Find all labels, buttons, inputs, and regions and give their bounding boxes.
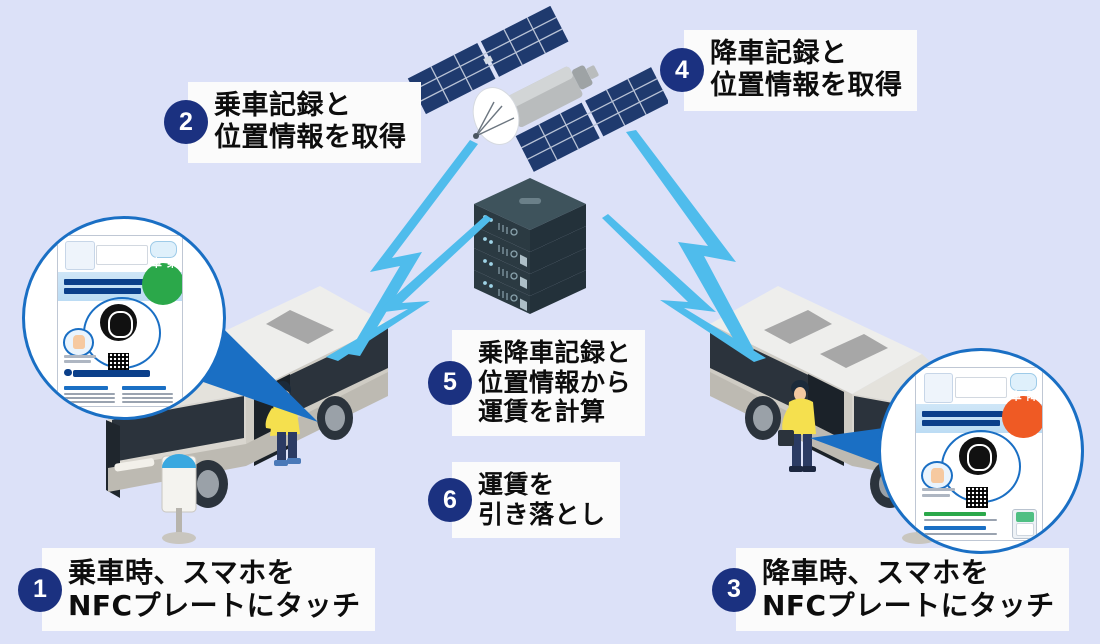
- callout-step-3[interactable]: 3 降車時、スマホを NFCプレートにタッチ: [712, 548, 1069, 631]
- poster-mode-badge-alight: 降車: [1002, 396, 1043, 439]
- step-text-1: 乗車時、スマホを NFCプレートにタッチ: [42, 548, 375, 631]
- poster-icon-tile-b: [955, 377, 1007, 398]
- callout-step-4[interactable]: 4 降車記録と 位置情報を取得: [660, 30, 917, 111]
- step-badge-5: 5: [428, 361, 472, 405]
- callout-step-1[interactable]: 1 乗車時、スマホを NFCプレートにタッチ: [18, 548, 375, 631]
- step-text-4: 降車記録と 位置情報を取得: [684, 30, 917, 111]
- poster-icon-tile-b: [96, 245, 148, 266]
- poster-mode-badge-label: 乗車: [147, 257, 179, 269]
- poster-footer-headline: [73, 370, 150, 377]
- step-text-3: 降車時、スマホを NFCプレートにタッチ: [736, 548, 1069, 631]
- nfc-poster-board: 乗車: [57, 235, 183, 407]
- magnifier-alight-plate: 降車: [878, 348, 1084, 554]
- poster-footer-col-left: [64, 386, 115, 401]
- magnifier-board-plate: 乗車: [22, 216, 226, 420]
- step-badge-6: 6: [428, 478, 472, 522]
- step-text-6: 運賃を 引き落とし: [452, 462, 620, 538]
- poster-footer-col-right: [122, 386, 173, 401]
- poster-step-row-1: [924, 512, 997, 522]
- poster-icon-tile-a: [65, 241, 94, 270]
- poster-mode-badge-label: 降車: [1007, 390, 1039, 402]
- diagram-canvas: 乗車 降車: [0, 0, 1100, 644]
- poster-step-row-2: [924, 526, 997, 536]
- poster-icon-tile-c: [1010, 373, 1037, 390]
- callout-step-6[interactable]: 6 運賃を 引き落とし: [428, 462, 620, 538]
- bolt-server-to-right-bus: [596, 214, 786, 366]
- nfc-poster-alight: 降車: [915, 367, 1043, 541]
- poster-mode-badge-board: 乗車: [142, 263, 183, 305]
- step-badge-1: 1: [18, 568, 62, 612]
- poster-hand-icon: [921, 461, 953, 490]
- step-badge-3: 3: [712, 568, 756, 612]
- nfc-touch-icon: [959, 437, 997, 475]
- poster-qr-code: [966, 487, 987, 508]
- poster-icon-tile-a: [924, 373, 954, 403]
- poster-footer-bullet: [64, 369, 71, 376]
- bus-stop-sign: [162, 454, 196, 544]
- poster-phone-mock: [1012, 509, 1037, 539]
- poster-hand-icon: [63, 328, 94, 357]
- bolt-left-bus-to-server: [310, 215, 500, 365]
- poster-icon-tile-c: [150, 241, 177, 258]
